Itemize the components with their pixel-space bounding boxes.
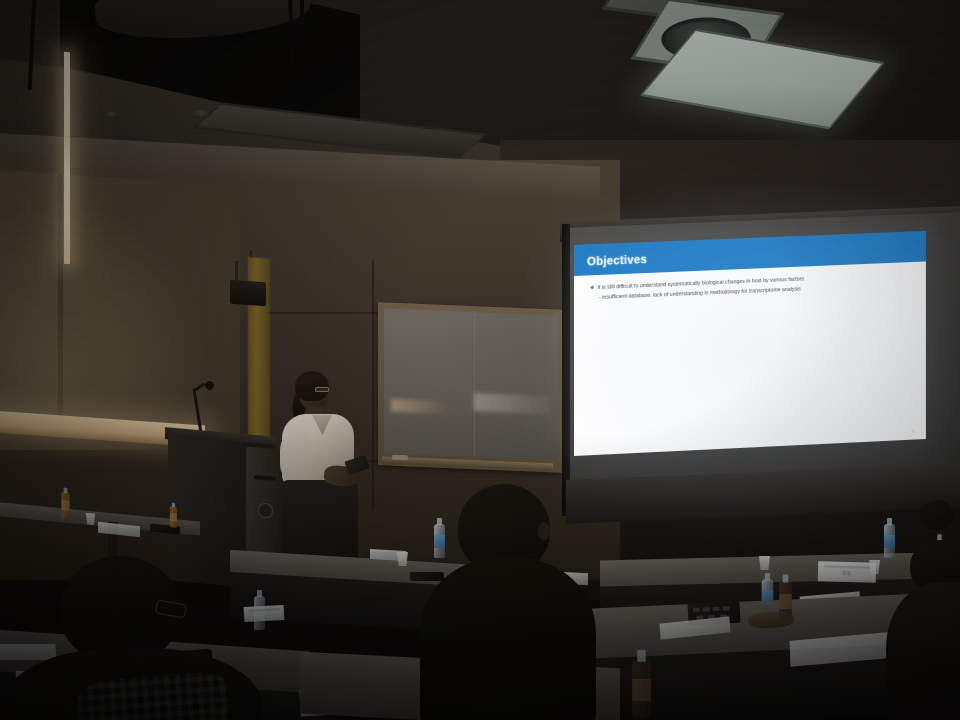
- ceiling-downlight-icon: [190, 108, 212, 118]
- daylight-strip: [64, 52, 70, 264]
- person-torso: [886, 582, 960, 720]
- bottle: [61, 492, 69, 518]
- whiteboard-surface: [384, 308, 558, 460]
- coffee-bottle: [632, 660, 651, 718]
- water-bottle: [884, 524, 895, 558]
- whiteboard-reflection: [391, 399, 450, 415]
- slide-number: 5: [912, 429, 914, 434]
- bottle-label: [779, 594, 792, 609]
- person-torso: [420, 558, 596, 720]
- audience-center: [420, 484, 590, 720]
- presenter: [272, 374, 364, 554]
- keyboard-key: [693, 608, 700, 612]
- whiteboard: [378, 302, 564, 473]
- presenter-hair: [295, 371, 329, 401]
- equipment-dial-icon: [258, 503, 273, 519]
- slide-body: ❖ It is still difficult to understand sy…: [590, 271, 914, 304]
- blind-seam: [58, 174, 63, 436]
- whiteboard-marker: [392, 455, 408, 461]
- presenter-skirt: [282, 480, 358, 558]
- wall-seam: [372, 260, 374, 510]
- presenter-sleeve: [280, 432, 312, 480]
- handout-paper: [370, 549, 406, 561]
- projected-slide: Objectives ❖ It is still difficult to un…: [574, 231, 926, 456]
- screen-left-edge: [562, 224, 570, 516]
- bottle: [170, 506, 177, 528]
- whiteboard-reflection: [474, 393, 551, 414]
- bottle-label: [61, 500, 69, 510]
- microphone-icon: [205, 381, 214, 390]
- conference-room-photo: Objectives ❖ It is still difficult to un…: [0, 0, 960, 720]
- name-card-line: [824, 565, 870, 568]
- keyboard-key: [703, 607, 710, 611]
- bottle-label: [170, 513, 177, 522]
- wall-speaker-icon: [230, 280, 266, 307]
- bottle-label: [884, 535, 895, 548]
- person-ear: [538, 522, 550, 540]
- ceiling-downlight-icon: [103, 110, 119, 118]
- keyboard-key: [723, 606, 730, 610]
- projection-screen: Objectives ❖ It is still difficult to un…: [552, 214, 960, 514]
- audience-right: [896, 540, 960, 720]
- audience-foreground-left: [18, 556, 248, 720]
- whiteboard-divider: [474, 312, 475, 457]
- presenter-glasses-icon: [315, 387, 329, 392]
- ceiling-hanger-rod: [300, 0, 304, 70]
- window-blinds: [0, 169, 240, 448]
- bottle-label: [632, 679, 651, 701]
- name-card: 氏名: [818, 561, 877, 583]
- name-card: [244, 605, 285, 622]
- name-card-line: [248, 608, 280, 612]
- name-card-text: 氏名: [818, 570, 876, 578]
- diamond-bullet-icon: ❖: [590, 284, 594, 293]
- person-head: [920, 500, 954, 530]
- keyboard-key: [713, 607, 720, 611]
- slide-title: Objectives: [587, 254, 647, 268]
